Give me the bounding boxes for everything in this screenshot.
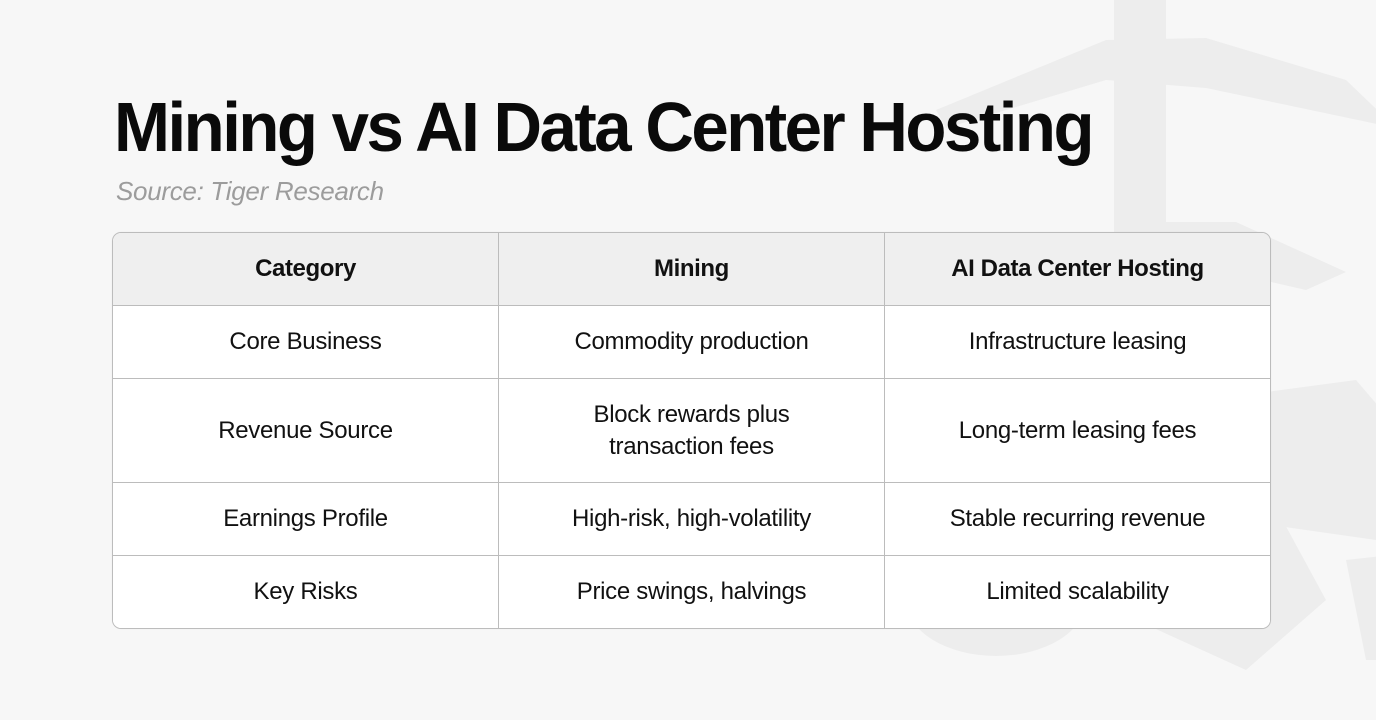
column-header-ai-data-center-hosting: AI Data Center Hosting [885,233,1270,306]
table-header-row: Category Mining AI Data Center Hosting [113,233,1270,306]
cell-category: Earnings Profile [113,483,499,556]
table-header: Category Mining AI Data Center Hosting [113,233,1270,306]
table-row: Key Risks Price swings, halvings Limited… [113,556,1270,628]
page-title: Mining vs AI Data Center Hosting [114,92,1228,162]
cell-mining: Block rewards plus transaction fees [499,379,885,483]
cell-mining-line-1: Block rewards plus [513,399,870,431]
table-row: Earnings Profile High-risk, high-volatil… [113,483,1270,556]
infographic-page: Mining vs AI Data Center Hosting Source:… [0,0,1376,706]
cell-ai-hosting: Long-term leasing fees [885,379,1270,483]
column-header-mining: Mining [499,233,885,306]
table-body: Core Business Commodity production Infra… [113,306,1270,628]
comparison-table: Category Mining AI Data Center Hosting C… [112,232,1271,629]
table-row: Revenue Source Block rewards plus transa… [113,379,1270,483]
cell-mining: High-risk, high-volatility [499,483,885,556]
source-attribution: Source: Tiger Research [116,176,1274,207]
cell-mining: Price swings, halvings [499,556,885,628]
cell-category: Key Risks [113,556,499,628]
cell-ai-hosting: Limited scalability [885,556,1270,628]
cell-category: Revenue Source [113,379,499,483]
column-header-category: Category [113,233,499,306]
cell-ai-hosting: Infrastructure leasing [885,306,1270,379]
cell-mining-line-2: transaction fees [513,431,870,463]
cell-category: Core Business [113,306,499,379]
cell-ai-hosting: Stable recurring revenue [885,483,1270,556]
comparison-table-container: Category Mining AI Data Center Hosting C… [112,232,1269,629]
table-row: Core Business Commodity production Infra… [113,306,1270,379]
header-block: Mining vs AI Data Center Hosting Source:… [114,92,1274,207]
cell-mining: Commodity production [499,306,885,379]
